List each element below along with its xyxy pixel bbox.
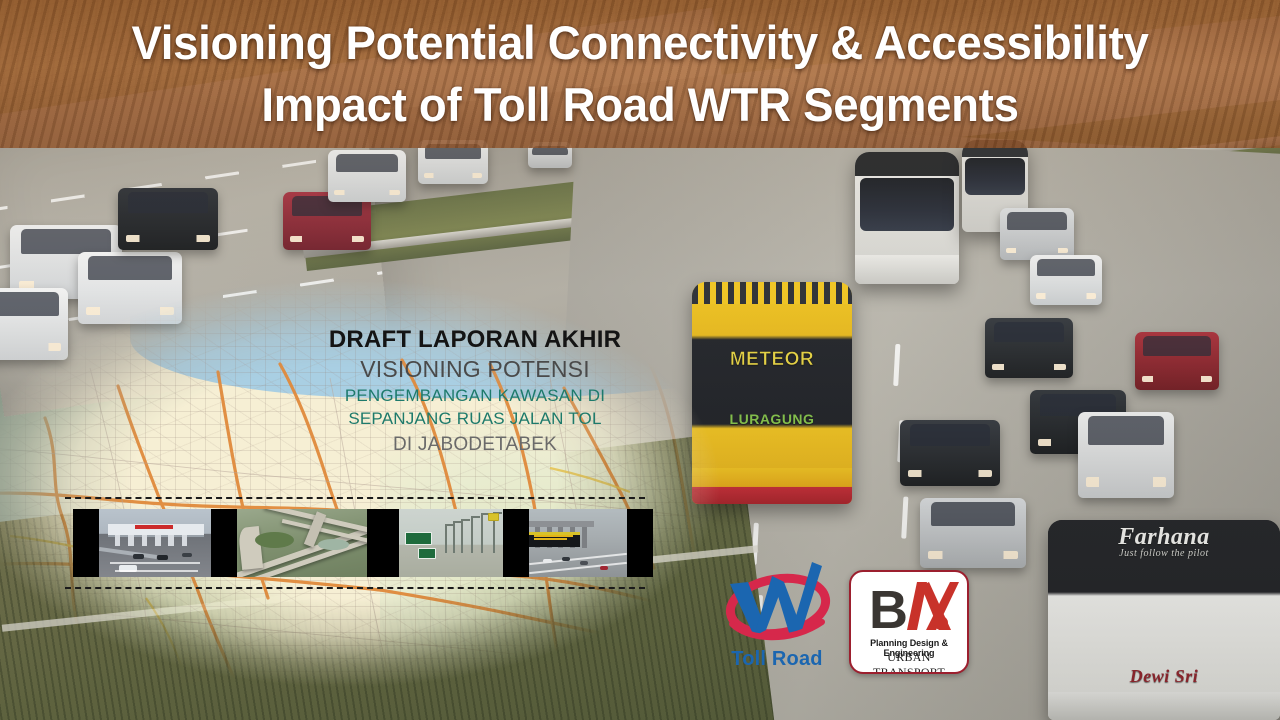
filmstrip-bottom-dashed-border [65, 587, 645, 589]
bus-name-dewi-sri: Dewi Sri [1048, 666, 1280, 687]
presentation-slide: METEOR LURAGUNG Farhana Just follow the … [0, 0, 1280, 720]
bus-livery-farhana: Farhana [1048, 524, 1280, 551]
toll-road-photo-strip [65, 497, 645, 589]
toll-gate-plaza-photo [99, 509, 211, 577]
filmstrip-top-dashed-border [65, 497, 645, 499]
highway-interchange-aerial-photo [237, 509, 367, 577]
vehicle-silver-car [920, 498, 1026, 568]
bia-urban-transport-logo: B Planning Design & Engineering URBAN TR… [849, 570, 969, 674]
vehicle-white-car [328, 150, 406, 202]
banner-title-line-2: Impact of Toll Road WTR Segments [19, 74, 1261, 136]
bia-letter-mark: B [851, 578, 967, 636]
vehicle-black-car [985, 318, 1073, 378]
vehicle-white-bus-rear [855, 152, 959, 284]
title-banner: Visioning Potential Connectivity & Acces… [0, 0, 1280, 148]
vehicle-silver-car [1000, 208, 1074, 260]
vehicle-black-sedan [118, 188, 218, 250]
bia-division: URBAN TRANSPORT [851, 650, 967, 674]
vehicle-white-car [1030, 255, 1102, 305]
toll-road-wordmark: Toll Road [718, 648, 836, 671]
banner-title-line-1: Visioning Potential Connectivity & Acces… [19, 0, 1261, 74]
svg-text:B: B [869, 580, 908, 636]
bus-sub-livery: Just follow the pilot [1048, 548, 1280, 559]
report-title-block: DRAFT LAPORAN AKHIR VISIONING POTENSI PE… [300, 326, 650, 458]
report-draft-label: DRAFT LAPORAN AKHIR [300, 326, 650, 354]
elevated-toll-road-vms-photo [529, 509, 627, 577]
toll-road-lamp-posts-photo [399, 509, 503, 577]
filmstrip-track [73, 509, 637, 577]
report-subtitle: VISIONING POTENSI [300, 354, 650, 384]
toll-road-w-mark [718, 556, 836, 652]
report-scope-line-2: SEPANJANG RUAS JALAN TOL [300, 407, 650, 430]
vehicle-white-bus-dewi-sri: Farhana Just follow the pilot Dewi Sri [1048, 520, 1280, 720]
report-region: DI JABODETABEK [300, 430, 650, 458]
report-scope-line-1: PENGEMBANGAN KAWASAN DI [300, 384, 650, 407]
vehicle-black-car [900, 420, 1000, 486]
vehicle-red-car [1135, 332, 1219, 390]
toll-road-logo: Toll Road [718, 556, 836, 672]
vehicle-white-van [1078, 412, 1174, 498]
